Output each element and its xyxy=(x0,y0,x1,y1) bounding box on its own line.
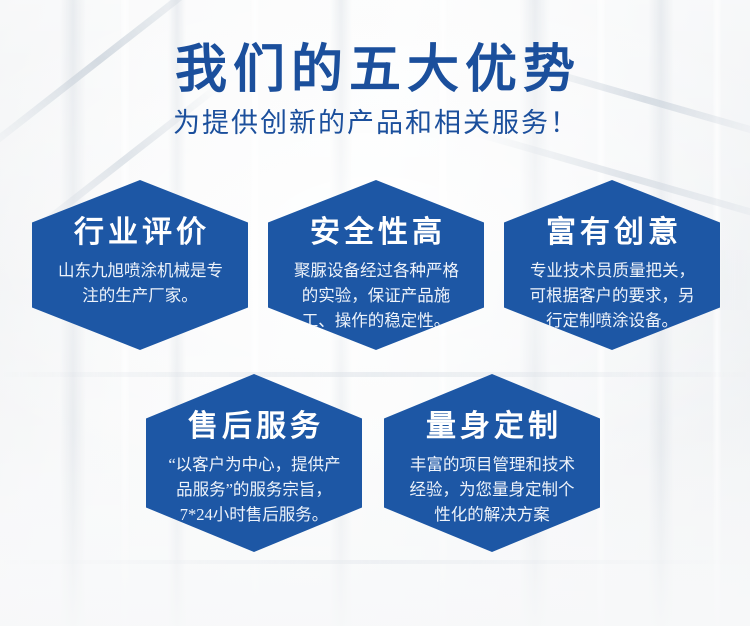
page-title: 我们的五大优势 xyxy=(0,42,750,100)
advantage-title: 量身定制 xyxy=(422,410,562,444)
advantage-title: 售后服务 xyxy=(184,410,324,444)
advantage-title: 行业评价 xyxy=(70,216,210,250)
background-bottom-fade xyxy=(0,416,750,626)
page-subtitle: 为提供创新的产品和相关服务！ xyxy=(0,106,750,140)
heading-block: 我们的五大优势 为提供创新的产品和相关服务！ xyxy=(0,42,750,140)
advantage-description: 专业技术员质量把关，可根据客户的要求，另行定制喷涂设备。 xyxy=(526,258,698,333)
advantage-description: 聚脲设备经过各种严格的实验，保证产品施工、操作的稳定性。 xyxy=(290,258,462,333)
advantage-description: 山东九旭喷涂机械是专注的生产厂家。 xyxy=(54,258,226,308)
promo-banner: 我们的五大优势 为提供创新的产品和相关服务！ 行业评价 山东九旭喷涂机械是专注的… xyxy=(0,0,750,626)
advantage-title: 富有创意 xyxy=(542,216,682,250)
advantage-description: 丰富的项目管理和技术经验，为您量身定制个性化的解决方案 xyxy=(402,452,582,527)
advantage-title: 安全性高 xyxy=(306,216,446,250)
advantage-description: “以客户为中心，提供产品服务”的服务宗旨，7*24小时售后服务。 xyxy=(164,452,344,527)
